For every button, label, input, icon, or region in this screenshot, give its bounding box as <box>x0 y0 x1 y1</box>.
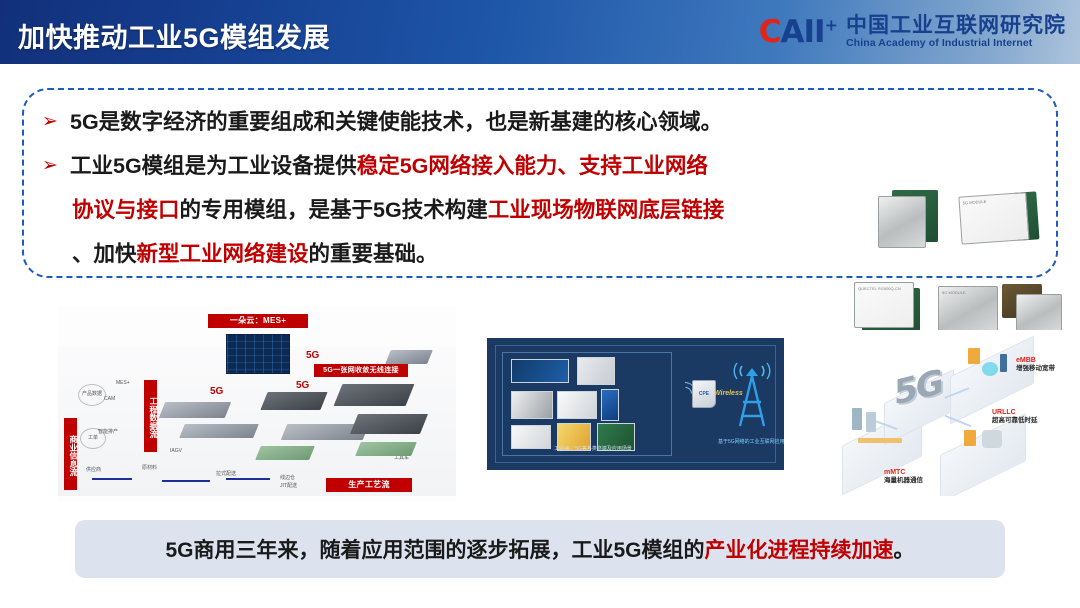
scenario-mmtc-cn: 海量机器通信 <box>884 477 923 485</box>
logo-name-cn: 中国工业互联网研究院 <box>846 15 1066 37</box>
module-photo-silver-flat: 5G MODULE <box>938 286 996 330</box>
5g-tower-icon <box>730 360 774 432</box>
node-raw-material: 原材料 <box>142 464 157 471</box>
module-photo-gold-shield <box>1002 284 1060 330</box>
label-5g-3: 5G <box>306 350 319 361</box>
summary-bar: 5G商用三年来，随着应用范围的逐步拓展，工业5G模组的产业化进程持续加速。 <box>75 520 1005 578</box>
node-iagv: IAGV <box>170 448 182 454</box>
bullet-2-seg-2-emphasis: 稳定5G网络接入能力、支持工业网络 <box>357 144 708 188</box>
node-smart-scheduling: 智能排产 <box>98 428 118 435</box>
flow-arrow-2 <box>162 480 210 482</box>
iso-machine-urllc <box>982 430 1002 448</box>
iso-tank-mmtc <box>852 408 862 430</box>
tag-one-cloud-mes: 一朵云：MES+ <box>208 314 308 328</box>
production-line-6 <box>255 446 315 460</box>
summary-text: 5G商用三年来，随着应用范围的逐步拓展，工业5G模组的产业化进程持续加速。 <box>165 534 914 564</box>
iso-pipe-mmtc <box>858 438 902 443</box>
panel-border: 工业4K／5G等各类终端及应用场景 CPE Wireless 基于5G网络的工业… <box>495 345 776 463</box>
bullet-4-seg-3: 的重要基础。 <box>309 232 438 276</box>
figure-factory-mes-diagram: 一朵云：MES+ 5G一张网收敛无线连接 5G 5G 5G 工程数据流 商业信息… <box>58 306 456 502</box>
thumb-vr-headset <box>511 391 553 419</box>
node-supplier: 供应商 <box>86 466 101 473</box>
bullet-line-3: 协议与接口 的专用模组，是基于5G技术构建 工业现场物联网底层链接 <box>42 188 832 232</box>
iso-robot-embb <box>968 348 980 364</box>
iso-worker-embb <box>1000 354 1007 372</box>
tower-caption: 基于5G网络的工业互联网应用 <box>718 438 784 445</box>
iso-robot-urllc <box>964 430 976 446</box>
slide-root: 加快推动工业5G模组发展 CAII+ 中国工业互联网研究院 China Acad… <box>0 0 1080 608</box>
arrow-bullet-icon: ➢ <box>42 144 66 188</box>
module-photo-quectel: QUECTEL RG500Q-CN <box>854 282 922 334</box>
scenario-urllc-en: URLLC <box>992 408 1038 417</box>
production-line-8 <box>355 442 417 456</box>
arrow-bullet-icon: ➢ <box>42 100 66 144</box>
tag-production-process-flow: 生产工艺流 <box>326 478 412 492</box>
terminal-group-caption: 工业4K／5G等各类终端及应用场景 <box>513 445 673 452</box>
summary-seg-2-emphasis: 产业化进程持续加速 <box>705 539 894 562</box>
production-line-7 <box>350 414 428 434</box>
tag-5g-one-network: 5G一张网收敛无线连接 <box>314 364 408 377</box>
scenario-embb-en: eMBB <box>1016 356 1055 365</box>
bullet-line-1: ➢ 5G是数字经济的重要组成和关键使能技术，也是新基建的核心领域。 <box>42 100 832 144</box>
bullet-list: ➢ 5G是数字经济的重要组成和关键使能技术，也是新基建的核心领域。 ➢ 工业5G… <box>42 100 832 276</box>
bullet-2-seg-1: 工业5G模组是为工业设备提供 <box>70 144 357 188</box>
scenario-embb-cn: 增强移动宽带 <box>1016 365 1055 373</box>
flow-arrow-1 <box>92 478 132 480</box>
logo-plus-icon: + <box>825 15 837 34</box>
bullet-1-seg-1: 5G是数字经济的重要组成和关键使能技术，也是新基建的核心领域。 <box>70 100 722 144</box>
production-line-1 <box>159 402 231 418</box>
cpe-device-icon: CPE <box>692 380 716 408</box>
summary-seg-3: 。 <box>894 539 915 562</box>
production-line-2 <box>179 424 259 438</box>
tag-business-info-flow: 商业信息流 <box>64 418 77 490</box>
logo-mark: CAII+ <box>759 17 837 48</box>
bullet-3-seg-3-emphasis: 工业现场物联网底层链接 <box>488 188 725 232</box>
scenario-urllc-cn: 超高可靠低时延 <box>992 417 1038 425</box>
terminal-group-box: 工业4K／5G等各类终端及应用场景 <box>502 352 672 456</box>
logo-letters-aii: AII <box>781 14 825 50</box>
bullet-line-2: ➢ 工业5G模组是为工业设备提供 稳定5G网络接入能力、支持工业网络 <box>42 144 832 188</box>
thumb-control-room <box>511 359 569 383</box>
scenario-label-urllc: URLLC 超高可靠低时延 <box>992 408 1038 426</box>
slide-header: 加快推动工业5G模组发展 CAII+ 中国工业互联网研究院 China Acad… <box>0 0 1080 64</box>
bullet-4-seg-1: 、加快 <box>72 232 137 276</box>
callout-box: ➢ 5G是数字经济的重要组成和关键使能技术，也是新基建的核心领域。 ➢ 工业5G… <box>22 88 1058 278</box>
node-mes-plus: MES+ <box>116 380 130 386</box>
thumb-smartphone <box>601 389 619 421</box>
figure-cpe-wireless-diagram: 工业4K／5G等各类终端及应用场景 CPE Wireless 基于5G网络的工业… <box>487 338 784 470</box>
scenario-label-mmtc: mMTC 海量机器通信 <box>884 468 923 486</box>
flow-arrow-3 <box>226 478 270 480</box>
bullet-3-seg-1-emphasis: 协议与接口 <box>72 188 180 232</box>
label-5g-1: 5G <box>210 386 223 397</box>
module-photo-white-pcb: 5G MODULE <box>958 191 1039 246</box>
bullet-line-4: 、加快 新型工业网络建设 的重要基础。 <box>42 232 832 276</box>
summary-seg-1: 5G商用三年来，随着应用范围的逐步拓展，工业5G模组的 <box>165 539 704 562</box>
node-line-side-warehouse: 线边仓 <box>280 474 295 481</box>
production-line-3 <box>260 392 327 410</box>
node-product-data: 产品数据 <box>78 384 106 406</box>
node-jit-distribution: JIT配送 <box>280 482 297 489</box>
figure-5g-scenarios-isometric: 5G eMBB 增强移动宽带 URLLC 超高可靠低时延 mMTC 海量机器通信 <box>840 330 1068 496</box>
logo-name-en: China Academy of Industrial Internet <box>846 38 1066 49</box>
bullet-3-seg-2: 的专用模组，是基于5G技术构建 <box>180 188 488 232</box>
scenario-label-embb: eMBB 增强移动宽带 <box>1016 356 1055 374</box>
mes-dashboard-screen <box>226 334 290 374</box>
iso-hologram-embb <box>982 362 998 376</box>
logo-wordmark: 中国工业互联网研究院 China Academy of Industrial I… <box>846 15 1066 48</box>
brand-logo: CAII+ 中国工业互联网研究院 China Academy of Indust… <box>759 9 1066 55</box>
page-title: 加快推动工业5G模组发展 <box>18 16 330 55</box>
module-photo-shield-large <box>878 190 938 246</box>
label-5g-2: 5G <box>296 380 309 391</box>
bullet-4-seg-2-emphasis: 新型工业网络建设 <box>137 232 309 276</box>
node-pull-distribution: 拉式配送 <box>216 470 236 477</box>
production-line-4 <box>334 384 415 406</box>
module-label-quectel: QUECTEL RG500Q-CN <box>858 286 918 292</box>
ship-icon <box>385 350 433 364</box>
scenario-mmtc-en: mMTC <box>884 468 923 477</box>
iso-tank2-mmtc <box>866 412 876 432</box>
tag-engineering-data-flow: 工程数据流 <box>144 380 157 452</box>
thumb-forklift <box>577 357 615 385</box>
module-label-silver-flat: 5G MODULE <box>942 290 992 296</box>
logo-letter-c: C <box>759 14 781 50</box>
node-cam: CAM <box>104 396 115 402</box>
thumb-camera <box>557 391 597 419</box>
